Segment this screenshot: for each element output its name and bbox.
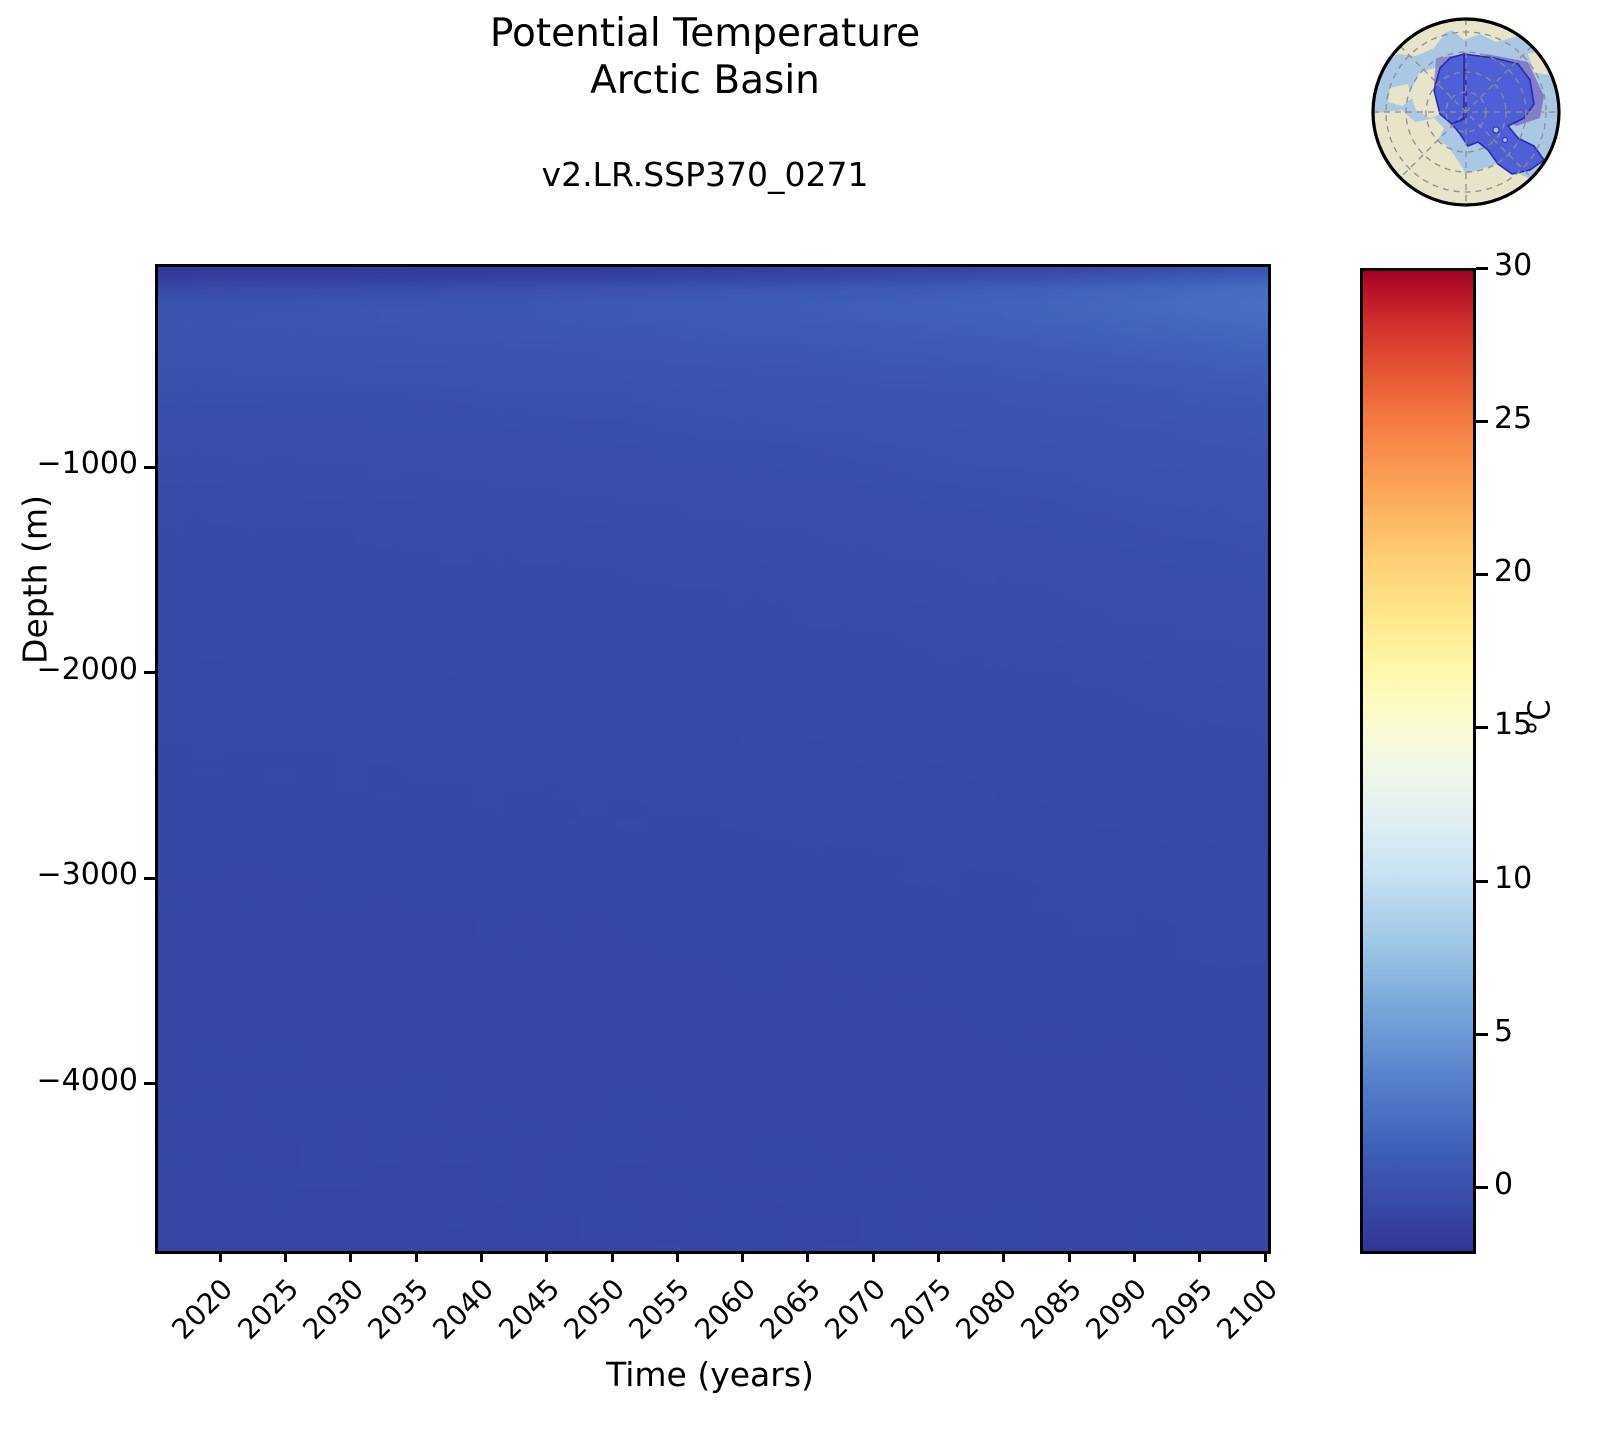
- colorbar-tick-mark: [1476, 880, 1488, 883]
- colorbar-tick-label: 10: [1494, 861, 1532, 896]
- title-line-2: Arctic Basin: [0, 57, 1410, 104]
- colorbar: [1360, 268, 1476, 1254]
- x-tick-mark: [611, 1251, 614, 1262]
- y-tick-mark: [144, 671, 155, 674]
- x-tick-mark: [1264, 1251, 1267, 1262]
- heatmap-image: [158, 267, 1268, 1251]
- figure-subtitle: v2.LR.SSP370_0271: [0, 155, 1410, 194]
- colorbar-tick-mark: [1476, 1186, 1488, 1189]
- x-tick-mark: [1198, 1251, 1201, 1262]
- x-tick-mark: [1002, 1251, 1005, 1262]
- y-tick-label: −3000: [37, 857, 138, 892]
- colorbar-tick-label: 5: [1494, 1014, 1513, 1049]
- x-tick-mark: [741, 1251, 744, 1262]
- arctic-locator-map-icon: [1368, 14, 1564, 210]
- x-tick-mark: [1068, 1251, 1071, 1262]
- map-contents: [1368, 14, 1564, 210]
- colorbar-gradient: [1363, 271, 1473, 1251]
- colorbar-tick-mark: [1476, 573, 1488, 576]
- x-tick-mark: [806, 1251, 809, 1262]
- y-axis-label: Depth (m): [16, 465, 55, 695]
- x-tick-mark: [676, 1251, 679, 1262]
- heatmap-plot-area: [155, 264, 1271, 1254]
- colorbar-unit-label: °C: [1523, 658, 1558, 778]
- x-tick-mark: [872, 1251, 875, 1262]
- polar-map-svg: [1368, 14, 1564, 210]
- page-title: Potential Temperature Arctic Basin: [0, 10, 1410, 104]
- region-hole-1: [1493, 127, 1499, 133]
- x-tick-mark: [349, 1251, 352, 1262]
- colorbar-tick-label: 30: [1494, 248, 1532, 283]
- x-tick-mark: [545, 1251, 548, 1262]
- y-tick-mark: [144, 877, 155, 880]
- colorbar-tick-mark: [1476, 1033, 1488, 1036]
- region-hole-2: [1503, 138, 1508, 143]
- x-tick-mark: [937, 1251, 940, 1262]
- x-tick-mark: [1133, 1251, 1136, 1262]
- colorbar-tick-label: 25: [1494, 401, 1532, 436]
- x-axis-label: Time (years): [155, 1355, 1265, 1394]
- x-tick-mark: [219, 1251, 222, 1262]
- colorbar-tick-mark: [1476, 420, 1488, 423]
- title-line-1: Potential Temperature: [0, 10, 1410, 57]
- y-tick-mark: [144, 1082, 155, 1085]
- x-tick-mark: [480, 1251, 483, 1262]
- colorbar-tick-label: 20: [1494, 554, 1532, 589]
- colorbar-tick-label: 0: [1494, 1167, 1513, 1202]
- y-tick-label: −4000: [37, 1063, 138, 1098]
- x-tick-mark: [415, 1251, 418, 1262]
- colorbar-tick-mark: [1476, 267, 1488, 270]
- x-tick-mark: [284, 1251, 287, 1262]
- colorbar-tick-mark: [1476, 726, 1488, 729]
- y-tick-mark: [144, 466, 155, 469]
